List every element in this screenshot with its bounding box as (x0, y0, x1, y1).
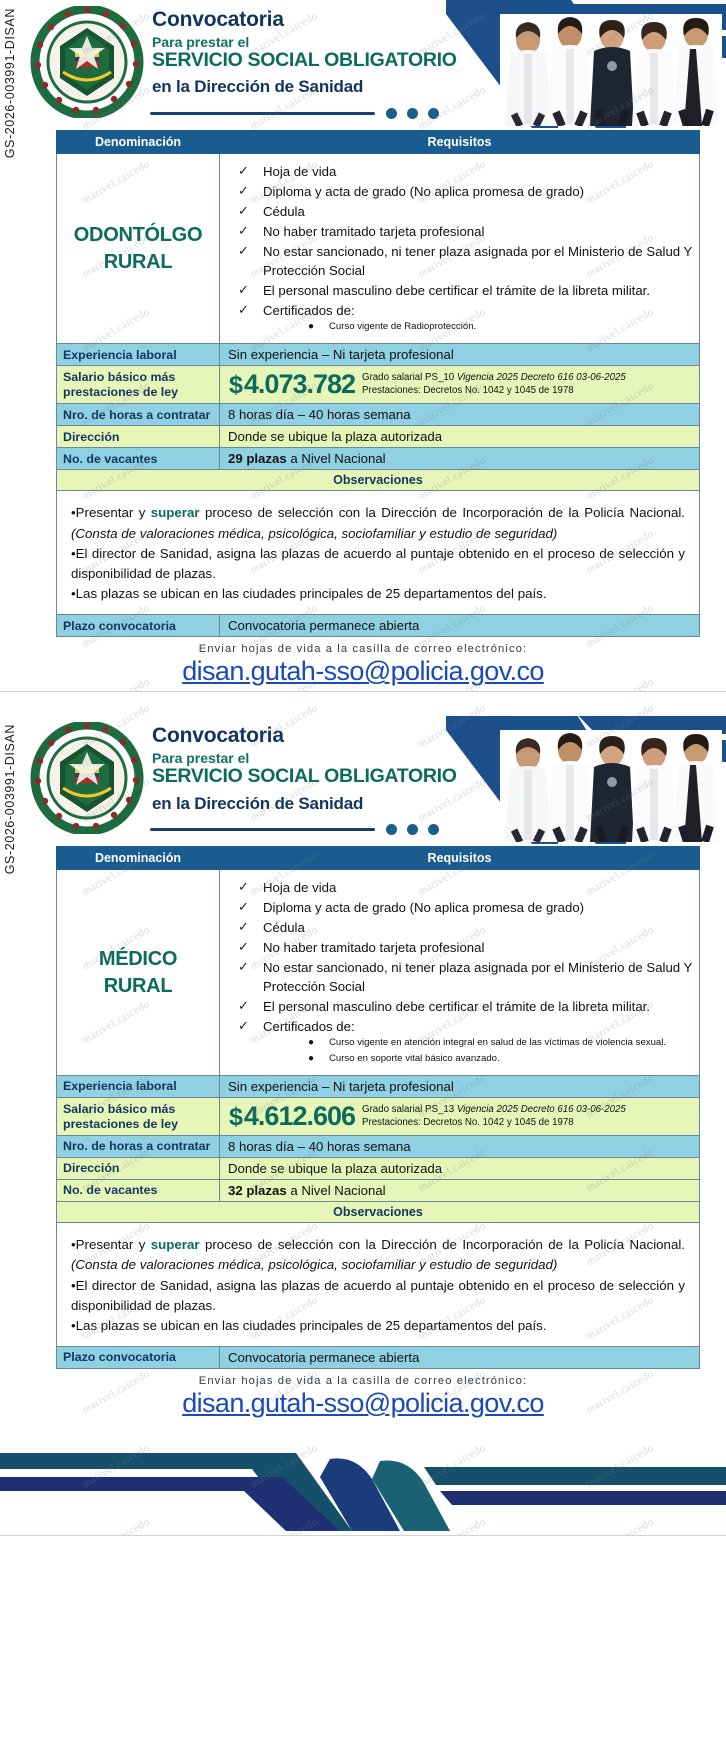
header-denominacion: Denominación (57, 847, 220, 870)
label-plazo: Plazo convocatoria (57, 1347, 220, 1369)
radicado-text: GS-2026-003991-DISAN (3, 724, 17, 874)
table-row-horas: Nro. de horas a contratar 8 horas día – … (57, 404, 700, 426)
footer-email-link[interactable]: disan.gutah-sso@policia.gov.co (182, 1388, 544, 1419)
value-vacantes: 32 plazas a Nivel Nacional (220, 1180, 700, 1202)
header-denominacion: Denominación (57, 131, 220, 154)
requisito-text: No estar sancionado, ni tener plaza asig… (263, 960, 692, 994)
bullet-icon: ● (308, 319, 314, 334)
dot-2 (407, 824, 418, 835)
check-icon: ✓ (238, 281, 249, 300)
list-item: ✓Cédula (230, 202, 693, 221)
header-direccion-sanidad: en la Dirección de Sanidad (152, 78, 457, 97)
table-row-direccion: Dirección Donde se ubique la plaza autor… (57, 1158, 700, 1180)
requisitos-list: ✓Hoja de vida ✓Diploma y acta de grado (… (230, 162, 693, 334)
radicado-vertical-label: GS-2026-003991-DISAN (2, 8, 18, 308)
table-row-plazo: Plazo convocatoria Convocatoria permanec… (57, 1347, 700, 1369)
certificado-text: Curso vigente de Radioprotección. (329, 321, 476, 332)
table-row: ODONTÓLGO RURAL ✓Hoja de vida ✓Diploma y… (57, 154, 700, 344)
salario-vigencia: Vigencia 2025 Decreto 616 03-06-2025 (457, 1104, 626, 1115)
observacion-1: •Presentar y superar proceso de selecció… (71, 503, 685, 543)
label-observaciones: Observaciones (57, 470, 700, 491)
check-icon: ✓ (238, 242, 249, 261)
check-icon: ✓ (238, 202, 249, 221)
salario-monto: 4.612.606 (244, 1101, 355, 1131)
table-row-vacantes: No. de vacantes 32 plazas a Nivel Nacion… (57, 1180, 700, 1202)
salario-grado: Grado salarial PS_10 (362, 372, 457, 383)
requisitos-cell: ✓Hoja de vida ✓Diploma y acta de grado (… (220, 870, 700, 1076)
check-icon: ✓ (238, 918, 249, 937)
obs1-highlight: superar (151, 505, 200, 520)
header-direccion-sanidad: en la Dirección de Sanidad (152, 795, 457, 814)
requisito-text: Diploma y acta de grado (No aplica prome… (263, 900, 584, 915)
table-header-row: Denominación Requisitos (57, 131, 700, 154)
denominacion-cell: MÉDICO RURAL (57, 870, 220, 1076)
requisito-text: Hoja de vida (263, 880, 336, 895)
header-servicio-social: SERVICIO SOCIAL OBLIGATORIO (152, 50, 457, 71)
header-dots-decoration (386, 108, 439, 119)
dot-1 (386, 824, 397, 835)
salario-meta: Grado salarial PS_13 Vigencia 2025 Decre… (362, 1104, 626, 1130)
list-item: ✓El personal masculino debe certificar e… (230, 997, 693, 1016)
label-direccion: Dirección (57, 1158, 220, 1180)
bottom-decoration (0, 1419, 726, 1531)
table-row: MÉDICO RURAL ✓Hoja de vida ✓Diploma y ac… (57, 870, 700, 1076)
header-para-prestar: Para prestar el (152, 751, 457, 766)
list-item: ●Curso vigente de Radioprotección. (263, 320, 693, 334)
vacantes-suffix: a Nivel Nacional (287, 1183, 386, 1198)
header-divider-rule (150, 828, 375, 831)
observacion-2: •El director de Sanidad, asigna las plaz… (71, 544, 685, 584)
list-item: ✓Certificados de: ●Curso vigente de Radi… (230, 301, 693, 334)
label-horas: Nro. de horas a contratar (57, 404, 220, 426)
obs1-italic: (Consta de valoraciones médica, psicológ… (71, 526, 557, 541)
check-icon: ✓ (238, 182, 249, 201)
list-item: ●Curso vigente en atención integral en s… (263, 1036, 693, 1050)
value-direccion: Donde se ubique la plaza autorizada (220, 1158, 700, 1180)
salario-vigencia: Vigencia 2025 Decreto 616 03-06-2025 (457, 372, 626, 383)
list-item: ✓Diploma y acta de grado (No aplica prom… (230, 182, 693, 201)
table-row-observaciones-body: •Presentar y superar proceso de selecció… (57, 1223, 700, 1347)
convocatoria-table: Denominación Requisitos MÉDICO RURAL ✓Ho… (56, 846, 700, 1369)
table-row-salario: Salario básico más prestaciones de ley $… (57, 1098, 700, 1136)
label-vacantes: No. de vacantes (57, 1180, 220, 1202)
obs1-italic: (Consta de valoraciones médica, psicológ… (71, 1257, 557, 1272)
obs1-highlight: superar (151, 1237, 200, 1252)
requisito-text: No haber tramitado tarjeta profesional (263, 224, 484, 239)
table-row-vacantes: No. de vacantes 29 plazas a Nivel Nacion… (57, 448, 700, 470)
denominacion-line-2: RURAL (61, 249, 215, 276)
list-item: ✓Certificados de: ●Curso vigente en aten… (230, 1017, 693, 1066)
denominacion-line-1: MÉDICO (61, 946, 215, 973)
medical-staff-photo (500, 730, 722, 842)
check-icon: ✓ (238, 301, 249, 320)
denominacion-cell: ODONTÓLGO RURAL (57, 154, 220, 344)
header-divider-rule (150, 112, 375, 115)
obs1-part-b: proceso de selección con la Dirección de… (200, 1237, 685, 1252)
table-row-experiencia: Experiencia laboral Sin experiencia – Ni… (57, 1076, 700, 1098)
bottom-swoosh-decoration (0, 1419, 726, 1531)
bullet-icon: ● (308, 1051, 314, 1066)
table-row-experiencia: Experiencia laboral Sin experiencia – Ni… (57, 344, 700, 366)
salario-prestaciones: Prestaciones: Decretos No. 1042 y 1045 d… (362, 1117, 626, 1130)
dot-3 (428, 824, 439, 835)
label-plazo: Plazo convocatoria (57, 615, 220, 637)
table-row-plazo: Plazo convocatoria Convocatoria permanec… (57, 615, 700, 637)
list-item: ✓Hoja de vida (230, 162, 693, 181)
table-row-observaciones-header: Observaciones (57, 470, 700, 491)
table-row-horas: Nro. de horas a contratar 8 horas día – … (57, 1136, 700, 1158)
requisito-text: Diploma y acta de grado (No aplica prome… (263, 184, 584, 199)
salario-amount: $4.073.782 (229, 369, 355, 400)
radicado-text: GS-2026-003991-DISAN (3, 8, 17, 158)
footer-lead-text: Enviar hojas de vida a la casilla de cor… (0, 643, 726, 655)
label-vacantes: No. de vacantes (57, 448, 220, 470)
salario-monto: 4.073.782 (244, 369, 355, 399)
certificado-text: Curso en soporte vital básico avanzado. (329, 1053, 500, 1064)
label-horas: Nro. de horas a contratar (57, 1136, 220, 1158)
salario-meta: Grado salarial PS_10 Vigencia 2025 Decre… (362, 372, 626, 398)
salario-amount: $4.612.606 (229, 1101, 355, 1132)
observacion-3: •Las plazas se ubican en las ciudades pr… (71, 1316, 685, 1336)
value-vacantes: 29 plazas a Nivel Nacional (220, 448, 700, 470)
observacion-3: •Las plazas se ubican en las ciudades pr… (71, 584, 685, 604)
dot-2 (407, 108, 418, 119)
bullet-icon: ● (308, 1035, 314, 1050)
certificados-sublist: ●Curso vigente en atención integral en s… (263, 1036, 693, 1066)
observaciones-cell: •Presentar y superar proceso de selecció… (57, 1223, 700, 1347)
value-direccion: Donde se ubique la plaza autorizada (220, 426, 700, 448)
label-observaciones: Observaciones (57, 1202, 700, 1223)
currency-symbol: $ (229, 1103, 242, 1131)
label-experiencia: Experiencia laboral (57, 1076, 220, 1098)
header-convocatoria: Convocatoria (152, 724, 457, 748)
check-icon: ✓ (238, 997, 249, 1016)
requisito-text: Certificados de: (263, 303, 355, 318)
value-horas: 8 horas día – 40 horas semana (220, 404, 700, 426)
radicado-vertical-label: GS-2026-003991-DISAN (2, 724, 18, 1024)
header-servicio-social: SERVICIO SOCIAL OBLIGATORIO (152, 766, 457, 787)
denominacion-line-2: RURAL (61, 973, 215, 1000)
header-dots-decoration (386, 824, 439, 835)
list-item: ✓No haber tramitado tarjeta profesional (230, 222, 693, 241)
currency-symbol: $ (229, 371, 242, 399)
convocatoria-card: GS-2026-003991-DISAN (0, 0, 726, 692)
table-header-row: Denominación Requisitos (57, 847, 700, 870)
footer-lead-text: Enviar hojas de vida a la casilla de cor… (0, 1375, 726, 1387)
label-salario: Salario básico más prestaciones de ley (57, 1098, 220, 1136)
value-plazo: Convocatoria permanece abierta (220, 615, 700, 637)
list-item: ✓Hoja de vida (230, 878, 693, 897)
requisito-text: No estar sancionado, ni tener plaza asig… (263, 244, 692, 278)
check-icon: ✓ (238, 162, 249, 181)
value-plazo: Convocatoria permanece abierta (220, 1347, 700, 1369)
table-row-observaciones-body: •Presentar y superar proceso de selecció… (57, 491, 700, 615)
observaciones-cell: •Presentar y superar proceso de selecció… (57, 491, 700, 615)
denominacion-line-1: ODONTÓLGO (61, 222, 215, 249)
value-horas: 8 horas día – 40 horas semana (220, 1136, 700, 1158)
requisito-text: El personal masculino debe certificar el… (263, 283, 650, 298)
requisitos-list: ✓Hoja de vida ✓Diploma y acta de grado (… (230, 878, 693, 1066)
check-icon: ✓ (238, 878, 249, 897)
vacantes-count: 32 plazas (228, 1183, 287, 1198)
header-convocatoria: Convocatoria (152, 8, 457, 32)
vacantes-count: 29 plazas (228, 451, 287, 466)
document-page: GS-2026-003991-DISAN (0, 0, 726, 1536)
salario-grado-line: Grado salarial PS_10 Vigencia 2025 Decre… (362, 372, 626, 385)
value-salario: $4.612.606 Grado salarial PS_13 Vigencia… (220, 1098, 700, 1136)
label-direccion: Dirección (57, 426, 220, 448)
list-item: ✓Diploma y acta de grado (No aplica prom… (230, 898, 693, 917)
footer-email-link[interactable]: disan.gutah-sso@policia.gov.co (182, 656, 544, 687)
vacantes-suffix: a Nivel Nacional (287, 451, 386, 466)
certificados-sublist: ●Curso vigente de Radioprotección. (263, 320, 693, 334)
check-icon: ✓ (238, 938, 249, 957)
observacion-1: •Presentar y superar proceso de selecció… (71, 1235, 685, 1275)
check-icon: ✓ (238, 898, 249, 917)
card-footer: Enviar hojas de vida a la casilla de cor… (0, 1369, 726, 1419)
convocatoria-card: GS-2026-003991-DISAN (0, 692, 726, 1536)
list-item: ✓El personal masculino debe certificar e… (230, 281, 693, 300)
table-row-direccion: Dirección Donde se ubique la plaza autor… (57, 426, 700, 448)
salario-grado-line: Grado salarial PS_13 Vigencia 2025 Decre… (362, 1104, 626, 1117)
label-experiencia: Experiencia laboral (57, 344, 220, 366)
requisito-text: Hoja de vida (263, 164, 336, 179)
requisitos-cell: ✓Hoja de vida ✓Diploma y acta de grado (… (220, 154, 700, 344)
certificado-text: Curso vigente en atención integral en sa… (329, 1037, 666, 1048)
list-item: ✓Cédula (230, 918, 693, 937)
requisito-text: El personal masculino debe certificar el… (263, 999, 650, 1014)
requisito-text: Cédula (263, 204, 305, 219)
header-requisitos: Requisitos (220, 847, 700, 870)
obs1-part-a: •Presentar y (71, 505, 151, 520)
check-icon: ✓ (238, 958, 249, 977)
dot-3 (428, 108, 439, 119)
dot-1 (386, 108, 397, 119)
police-crest-icon (28, 6, 146, 118)
salario-grado: Grado salarial PS_13 (362, 1104, 457, 1115)
obs1-part-a: •Presentar y (71, 1237, 151, 1252)
police-crest-icon (28, 722, 146, 834)
header-para-prestar: Para prestar el (152, 35, 457, 50)
table-row-salario: Salario básico más prestaciones de ley $… (57, 366, 700, 404)
list-item: ✓No haber tramitado tarjeta profesional (230, 938, 693, 957)
salario-prestaciones: Prestaciones: Decretos No. 1042 y 1045 d… (362, 385, 626, 398)
list-item: ●Curso en soporte vital básico avanzado. (263, 1052, 693, 1066)
list-item: ✓No estar sancionado, ni tener plaza asi… (230, 242, 693, 280)
observacion-2: •El director de Sanidad, asigna las plaz… (71, 1276, 685, 1316)
value-experiencia: Sin experiencia – Ni tarjeta profesional (220, 344, 700, 366)
requisito-text: Cédula (263, 920, 305, 935)
header-requisitos: Requisitos (220, 131, 700, 154)
check-icon: ✓ (238, 1017, 249, 1036)
list-item: ✓No estar sancionado, ni tener plaza asi… (230, 958, 693, 996)
medical-staff-photo (500, 14, 722, 126)
table-row-observaciones-header: Observaciones (57, 1202, 700, 1223)
requisito-text: No haber tramitado tarjeta profesional (263, 940, 484, 955)
header-text-block: Convocatoria Para prestar el SERVICIO SO… (152, 724, 457, 813)
check-icon: ✓ (238, 222, 249, 241)
value-salario: $4.073.782 Grado salarial PS_10 Vigencia… (220, 366, 700, 404)
obs1-part-b: proceso de selección con la Dirección de… (200, 505, 685, 520)
card-header: Convocatoria Para prestar el SERVICIO SO… (0, 716, 726, 844)
card-footer: Enviar hojas de vida a la casilla de cor… (0, 637, 726, 687)
header-text-block: Convocatoria Para prestar el SERVICIO SO… (152, 8, 457, 97)
value-experiencia: Sin experiencia – Ni tarjeta profesional (220, 1076, 700, 1098)
convocatoria-table: Denominación Requisitos ODONTÓLGO RURAL … (56, 130, 700, 637)
label-salario: Salario básico más prestaciones de ley (57, 366, 220, 404)
card-header: Convocatoria Para prestar el SERVICIO SO… (0, 0, 726, 128)
requisito-text: Certificados de: (263, 1019, 355, 1034)
